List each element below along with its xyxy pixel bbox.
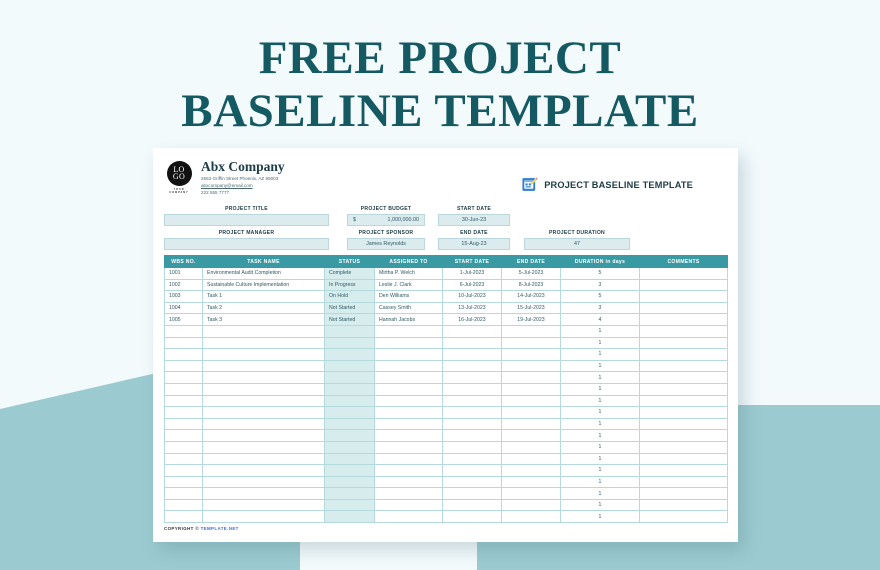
project-budget-input[interactable]: $ 1,000,000.00 — [347, 214, 425, 226]
cell-duration[interactable]: 5 — [561, 291, 640, 303]
logo: LO GO YOUR COMPANY — [164, 160, 194, 194]
page-title: FREE PROJECT BASELINE TEMPLATE — [0, 32, 880, 137]
cell-wbs[interactable] — [165, 325, 203, 337]
cell-start[interactable]: 13-Jul-2023 — [443, 302, 502, 314]
cell-wbs[interactable] — [165, 418, 203, 430]
cell-end[interactable] — [502, 349, 561, 361]
cell-status[interactable] — [325, 372, 375, 384]
cell-duration[interactable]: 3 — [561, 302, 640, 314]
company-header: LO GO YOUR COMPANY Abx Company 2553 Grif… — [164, 160, 727, 204]
cell-status[interactable] — [325, 337, 375, 349]
cell-status[interactable] — [325, 407, 375, 419]
table-row: 1 — [165, 407, 728, 419]
cell-status[interactable] — [325, 465, 375, 477]
cell-start[interactable] — [443, 383, 502, 395]
cell-duration[interactable]: 3 — [561, 279, 640, 291]
cell-end[interactable] — [502, 465, 561, 477]
cell-status[interactable] — [325, 488, 375, 500]
cell-duration[interactable]: 4 — [561, 314, 640, 326]
start-date-label: START DATE — [438, 206, 510, 212]
table-row: 1 — [165, 418, 728, 430]
cell-end[interactable] — [502, 441, 561, 453]
column-header-1[interactable]: TASK NAME — [203, 256, 325, 268]
cell-assigned[interactable]: Leslie J. Clark — [375, 279, 443, 291]
cell-duration[interactable]: 1 — [561, 476, 640, 488]
budget-currency-symbol: $ — [353, 217, 356, 223]
project-manager-label: PROJECT MANAGER — [164, 230, 329, 236]
cell-duration[interactable]: 1 — [561, 488, 640, 500]
company-address: 2553 Griffin Street Phoenix, AZ 85003 — [201, 175, 285, 182]
cell-wbs[interactable] — [165, 337, 203, 349]
company-identity: LO GO YOUR COMPANY Abx Company 2553 Grif… — [164, 160, 285, 197]
cell-comments[interactable] — [640, 453, 728, 465]
table-row: 1 — [165, 441, 728, 453]
cell-duration[interactable]: 1 — [561, 453, 640, 465]
cell-end[interactable] — [502, 395, 561, 407]
cell-duration[interactable]: 1 — [561, 337, 640, 349]
cell-assigned[interactable] — [375, 407, 443, 419]
cell-status[interactable] — [325, 360, 375, 372]
cell-comments[interactable] — [640, 383, 728, 395]
cell-assigned[interactable]: Den Williams — [375, 291, 443, 303]
cell-wbs[interactable] — [165, 476, 203, 488]
cell-assigned[interactable] — [375, 325, 443, 337]
cell-start[interactable] — [443, 337, 502, 349]
cell-task[interactable] — [203, 360, 325, 372]
cell-end[interactable] — [502, 511, 561, 523]
cell-wbs[interactable] — [165, 372, 203, 384]
company-details: Abx Company 2553 Griffin Street Phoenix,… — [201, 160, 285, 197]
project-sponsor-input[interactable]: James Reynolds — [347, 238, 425, 250]
cell-end[interactable] — [502, 418, 561, 430]
cell-assigned[interactable]: Hannah Jacobs — [375, 314, 443, 326]
cell-duration[interactable]: 5 — [561, 268, 640, 280]
cell-end[interactable] — [502, 383, 561, 395]
baseline-table: WBS NO.TASK NAMESTATUSASSIGNED TOSTART D… — [164, 255, 728, 523]
cell-start[interactable] — [443, 465, 502, 477]
cell-end[interactable] — [502, 372, 561, 384]
cell-wbs[interactable] — [165, 349, 203, 361]
cell-start[interactable] — [443, 430, 502, 442]
cell-wbs[interactable] — [165, 511, 203, 523]
cell-comments[interactable] — [640, 418, 728, 430]
cell-comments[interactable] — [640, 372, 728, 384]
cell-wbs[interactable]: 1005 — [165, 314, 203, 326]
cell-status[interactable]: Not Started — [325, 314, 375, 326]
column-header-7[interactable]: COMMENTS — [640, 256, 728, 268]
cell-wbs[interactable] — [165, 360, 203, 372]
cell-task[interactable] — [203, 465, 325, 477]
cell-status[interactable] — [325, 325, 375, 337]
cell-task[interactable]: Sustainable Culture Implementation — [203, 279, 325, 291]
cell-wbs[interactable] — [165, 499, 203, 511]
column-header-6[interactable]: DURATION in days — [561, 256, 640, 268]
cell-task[interactable] — [203, 407, 325, 419]
table-row: 1 — [165, 337, 728, 349]
cell-assigned[interactable] — [375, 349, 443, 361]
cell-assigned[interactable] — [375, 499, 443, 511]
cell-task[interactable] — [203, 325, 325, 337]
cell-status[interactable] — [325, 349, 375, 361]
cell-start[interactable] — [443, 418, 502, 430]
cell-duration[interactable]: 1 — [561, 407, 640, 419]
cell-wbs[interactable] — [165, 395, 203, 407]
cell-task[interactable] — [203, 349, 325, 361]
cell-start[interactable]: 1-Jul-2023 — [443, 268, 502, 280]
cell-comments[interactable] — [640, 360, 728, 372]
cell-duration[interactable]: 1 — [561, 383, 640, 395]
table-row: 1004Task 2Not StartedCassey Smith13-Jul-… — [165, 302, 728, 314]
copyright-text: COPYRIGHT © — [164, 526, 199, 531]
cell-assigned[interactable] — [375, 337, 443, 349]
table-row: 1 — [165, 465, 728, 477]
cell-comments[interactable] — [640, 465, 728, 477]
cell-start[interactable] — [443, 499, 502, 511]
column-header-4[interactable]: START DATE — [443, 256, 502, 268]
project-title-label: PROJECT TITLE — [164, 206, 329, 212]
cell-end[interactable]: 15-Jul-2023 — [502, 302, 561, 314]
cell-comments[interactable] — [640, 279, 728, 291]
table-row: 1001Environmental Audit CompletionComple… — [165, 268, 728, 280]
cell-start[interactable] — [443, 476, 502, 488]
cell-start[interactable] — [443, 395, 502, 407]
cell-wbs[interactable]: 1001 — [165, 268, 203, 280]
cell-duration[interactable]: 1 — [561, 395, 640, 407]
cell-task[interactable]: Task 1 — [203, 291, 325, 303]
project-sponsor-field: PROJECT SPONSOR James Reynolds — [347, 230, 425, 250]
cell-comments[interactable] — [640, 349, 728, 361]
cell-duration[interactable]: 1 — [561, 349, 640, 361]
cell-comments[interactable] — [640, 291, 728, 303]
cell-wbs[interactable] — [165, 488, 203, 500]
cell-duration[interactable]: 1 — [561, 465, 640, 477]
cell-assigned[interactable] — [375, 372, 443, 384]
cell-status[interactable] — [325, 418, 375, 430]
logo-circle-icon: LO GO — [167, 161, 192, 186]
cell-wbs[interactable]: 1004 — [165, 302, 203, 314]
start-date-input[interactable]: 30-Jun-23 — [438, 214, 510, 226]
cell-duration[interactable]: 1 — [561, 325, 640, 337]
table-row: 1 — [165, 488, 728, 500]
table-row: 1 — [165, 430, 728, 442]
cell-start[interactable] — [443, 453, 502, 465]
cell-assigned[interactable] — [375, 383, 443, 395]
table-row: 1003Task 1On HoldDen Williams10-Jul-2023… — [165, 291, 728, 303]
table-row: 1005Task 3Not StartedHannah Jacobs16-Jul… — [165, 314, 728, 326]
poster-canvas: FREE PROJECT BASELINE TEMPLATE LO GO YOU… — [0, 0, 880, 570]
cell-assigned[interactable] — [375, 453, 443, 465]
cell-wbs[interactable] — [165, 430, 203, 442]
cell-comments[interactable] — [640, 407, 728, 419]
logo-subtitle: YOUR COMPANY — [164, 188, 194, 194]
cell-status[interactable] — [325, 499, 375, 511]
template-sheet: LO GO YOUR COMPANY Abx Company 2553 Grif… — [153, 148, 738, 542]
cell-end[interactable] — [502, 476, 561, 488]
cell-duration[interactable]: 1 — [561, 430, 640, 442]
document-title: PROJECT BASELINE TEMPLATE — [544, 180, 693, 190]
cell-start[interactable]: 16-Jul-2023 — [443, 314, 502, 326]
cell-duration[interactable]: 1 — [561, 360, 640, 372]
cell-end[interactable] — [502, 499, 561, 511]
cell-start[interactable]: 10-Jul-2023 — [443, 291, 502, 303]
project-duration-label: PROJECT DURATION — [524, 230, 630, 236]
cell-end[interactable] — [502, 430, 561, 442]
cell-comments[interactable] — [640, 488, 728, 500]
cell-start[interactable] — [443, 372, 502, 384]
cell-duration[interactable]: 1 — [561, 418, 640, 430]
cell-end[interactable] — [502, 337, 561, 349]
table-row: 1 — [165, 383, 728, 395]
column-header-3[interactable]: ASSIGNED TO — [375, 256, 443, 268]
cell-status[interactable]: On Hold — [325, 291, 375, 303]
table-row: 1 — [165, 511, 728, 523]
project-sponsor-label: PROJECT SPONSOR — [347, 230, 425, 236]
cell-assigned[interactable] — [375, 360, 443, 372]
table-row: 1 — [165, 372, 728, 384]
cell-task[interactable] — [203, 511, 325, 523]
cell-duration[interactable]: 1 — [561, 441, 640, 453]
cell-comments[interactable] — [640, 499, 728, 511]
cell-task[interactable]: Environmental Audit Completion — [203, 268, 325, 280]
cell-comments[interactable] — [640, 511, 728, 523]
cell-comments[interactable] — [640, 302, 728, 314]
cell-end[interactable]: 5-Jul-2023 — [502, 268, 561, 280]
cell-assigned[interactable]: Cassey Smith — [375, 302, 443, 314]
cell-task[interactable]: Task 3 — [203, 314, 325, 326]
cell-wbs[interactable] — [165, 465, 203, 477]
cell-status[interactable] — [325, 453, 375, 465]
cell-comments[interactable] — [640, 268, 728, 280]
cell-status[interactable] — [325, 395, 375, 407]
cell-end[interactable]: 8-Jul-2023 — [502, 279, 561, 291]
cell-status[interactable] — [325, 383, 375, 395]
spreadsheet-icon — [521, 176, 538, 193]
cell-assigned[interactable]: Mirtha P. Welch — [375, 268, 443, 280]
cell-task[interactable]: Task 2 — [203, 302, 325, 314]
cell-start[interactable] — [443, 441, 502, 453]
cell-task[interactable] — [203, 395, 325, 407]
cell-duration[interactable]: 1 — [561, 499, 640, 511]
table-row: 1 — [165, 499, 728, 511]
cell-start[interactable]: 6-Jul-2023 — [443, 279, 502, 291]
footer-copyright: COPYRIGHT © TEMPLATE.NET — [164, 526, 727, 531]
table-row: 1 — [165, 325, 728, 337]
table-body: 1001Environmental Audit CompletionComple… — [165, 268, 728, 523]
column-header-5[interactable]: END DATE — [502, 256, 561, 268]
cell-comments[interactable] — [640, 325, 728, 337]
cell-wbs[interactable]: 1003 — [165, 291, 203, 303]
cell-assigned[interactable] — [375, 430, 443, 442]
cell-status[interactable] — [325, 441, 375, 453]
project-budget-label: PROJECT BUDGET — [347, 206, 425, 212]
cell-task[interactable] — [203, 441, 325, 453]
cell-end[interactable]: 19-Jul-2023 — [502, 314, 561, 326]
cell-assigned[interactable] — [375, 418, 443, 430]
cell-status[interactable]: Complete — [325, 268, 375, 280]
cell-task[interactable] — [203, 383, 325, 395]
table-row: 1 — [165, 453, 728, 465]
cell-comments[interactable] — [640, 314, 728, 326]
cell-assigned[interactable] — [375, 511, 443, 523]
cell-task[interactable] — [203, 337, 325, 349]
start-date-field: START DATE 30-Jun-23 — [438, 206, 510, 226]
cell-status[interactable] — [325, 430, 375, 442]
cell-comments[interactable] — [640, 395, 728, 407]
project-budget-field: PROJECT BUDGET $ 1,000,000.00 — [347, 206, 425, 226]
cell-assigned[interactable] — [375, 488, 443, 500]
cell-comments[interactable] — [640, 430, 728, 442]
end-date-input[interactable]: 15-Aug-23 — [438, 238, 510, 250]
cell-start[interactable] — [443, 407, 502, 419]
project-title-input[interactable] — [164, 214, 329, 226]
cell-start[interactable] — [443, 325, 502, 337]
cell-comments[interactable] — [640, 476, 728, 488]
cell-start[interactable] — [443, 349, 502, 361]
table-row: 1 — [165, 395, 728, 407]
cell-start[interactable] — [443, 511, 502, 523]
end-date-field: END DATE 15-Aug-23 — [438, 230, 510, 250]
cell-task[interactable] — [203, 488, 325, 500]
cell-end[interactable] — [502, 325, 561, 337]
cell-task[interactable] — [203, 430, 325, 442]
project-info-section: PROJECT TITLE PROJECT BUDGET $ 1,000,000… — [164, 206, 727, 250]
cell-task[interactable] — [203, 453, 325, 465]
cell-start[interactable] — [443, 488, 502, 500]
cell-task[interactable] — [203, 372, 325, 384]
cell-assigned[interactable] — [375, 441, 443, 453]
cell-status[interactable] — [325, 511, 375, 523]
project-duration-field: PROJECT DURATION 47 — [524, 230, 630, 250]
table-row: 1 — [165, 349, 728, 361]
cell-end[interactable] — [502, 360, 561, 372]
cell-wbs[interactable] — [165, 383, 203, 395]
template-net-link[interactable]: TEMPLATE.NET — [201, 526, 239, 531]
cell-status[interactable]: Not Started — [325, 302, 375, 314]
project-manager-input[interactable] — [164, 238, 329, 250]
column-header-2[interactable]: STATUS — [325, 256, 375, 268]
document-title-block: PROJECT BASELINE TEMPLATE — [521, 160, 727, 193]
cell-task[interactable] — [203, 476, 325, 488]
table-row: 1 — [165, 360, 728, 372]
cell-end[interactable] — [502, 407, 561, 419]
cell-wbs[interactable] — [165, 441, 203, 453]
cell-wbs[interactable] — [165, 453, 203, 465]
table-header-row: WBS NO.TASK NAMESTATUSASSIGNED TOSTART D… — [165, 256, 728, 268]
cell-task[interactable] — [203, 418, 325, 430]
cell-comments[interactable] — [640, 441, 728, 453]
cell-assigned[interactable] — [375, 395, 443, 407]
cell-end[interactable] — [502, 488, 561, 500]
cell-wbs[interactable]: 1002 — [165, 279, 203, 291]
table-row: 1 — [165, 476, 728, 488]
project-duration-input[interactable]: 47 — [524, 238, 630, 250]
project-info-row-1: PROJECT TITLE PROJECT BUDGET $ 1,000,000… — [164, 206, 727, 226]
cell-assigned[interactable] — [375, 465, 443, 477]
company-phone: 222 555 7777 — [201, 189, 285, 196]
company-email[interactable]: abxcompany@email.com — [201, 182, 285, 189]
column-header-0[interactable]: WBS NO. — [165, 256, 203, 268]
company-name: Abx Company — [201, 160, 285, 174]
cell-comments[interactable] — [640, 337, 728, 349]
cell-status[interactable]: In Progress — [325, 279, 375, 291]
cell-end[interactable] — [502, 453, 561, 465]
cell-task[interactable] — [203, 499, 325, 511]
project-info-row-2: PROJECT MANAGER PROJECT SPONSOR James Re… — [164, 230, 727, 250]
cell-duration[interactable]: 1 — [561, 372, 640, 384]
budget-amount: 1,000,000.00 — [388, 217, 419, 223]
table-row: 1002Sustainable Culture ImplementationIn… — [165, 279, 728, 291]
cell-start[interactable] — [443, 360, 502, 372]
project-title-field: PROJECT TITLE — [164, 206, 329, 226]
logo-text-bottom: GO — [173, 174, 185, 181]
end-date-label: END DATE — [438, 230, 510, 236]
project-manager-field: PROJECT MANAGER — [164, 230, 329, 250]
cell-assigned[interactable] — [375, 476, 443, 488]
cell-end[interactable]: 14-Jul-2023 — [502, 291, 561, 303]
page-title-line-1: FREE PROJECT — [0, 32, 880, 85]
cell-status[interactable] — [325, 476, 375, 488]
page-title-line-2: BASELINE TEMPLATE — [0, 85, 880, 138]
cell-wbs[interactable] — [165, 407, 203, 419]
cell-duration[interactable]: 1 — [561, 511, 640, 523]
